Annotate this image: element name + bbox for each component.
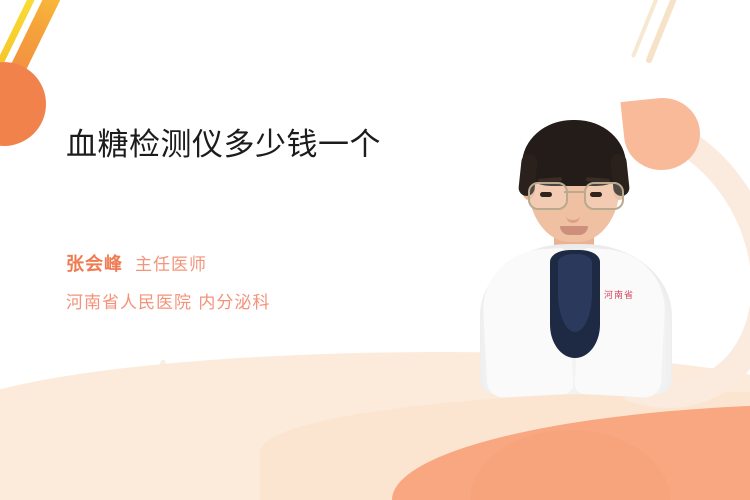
doctor-coat-badge-text: 河南省 xyxy=(604,290,638,303)
doctor-hair xyxy=(522,120,626,186)
doctor-shirt-collar xyxy=(558,254,592,332)
diagonal-stripe-bottom-left xyxy=(142,359,166,405)
salmon-wave-bottom-right xyxy=(392,404,750,500)
doctor-byline: 张会峰 主任医师 xyxy=(66,250,207,276)
diagonal-stripe-top-left-orange xyxy=(2,0,71,90)
orange-circle-left xyxy=(0,62,46,146)
glasses-bridge xyxy=(564,191,584,193)
doctor-professional-title: 主任医师 xyxy=(135,250,207,275)
page-title: 血糖检测仪多少钱一个 xyxy=(66,124,416,166)
salmon-wave-bottom-right-soft xyxy=(470,430,670,500)
doctor-eye-left xyxy=(540,192,552,197)
diagonal-stripe-top-left-yellow xyxy=(0,0,45,87)
diagonal-stripe-top-right-thick xyxy=(645,0,683,64)
doctor-affiliation: 河南省人民医院 内分泌科 xyxy=(66,288,270,313)
doctor-name: 张会峰 xyxy=(66,250,123,276)
doctor-qa-banner-card: 河南省 血糖检测仪多少钱一个 张会峰 主任医师 河南省人民医院 内分泌科 xyxy=(0,0,750,500)
doctor-nose xyxy=(566,200,580,223)
pale-wave-bottom-secondary xyxy=(260,392,750,500)
doctor-eye-right xyxy=(590,192,602,197)
doctor-portrait-group: 河南省 xyxy=(442,96,742,386)
doctor-photo: 河南省 xyxy=(458,104,688,384)
diagonal-stripe-top-right-thin xyxy=(631,0,663,58)
